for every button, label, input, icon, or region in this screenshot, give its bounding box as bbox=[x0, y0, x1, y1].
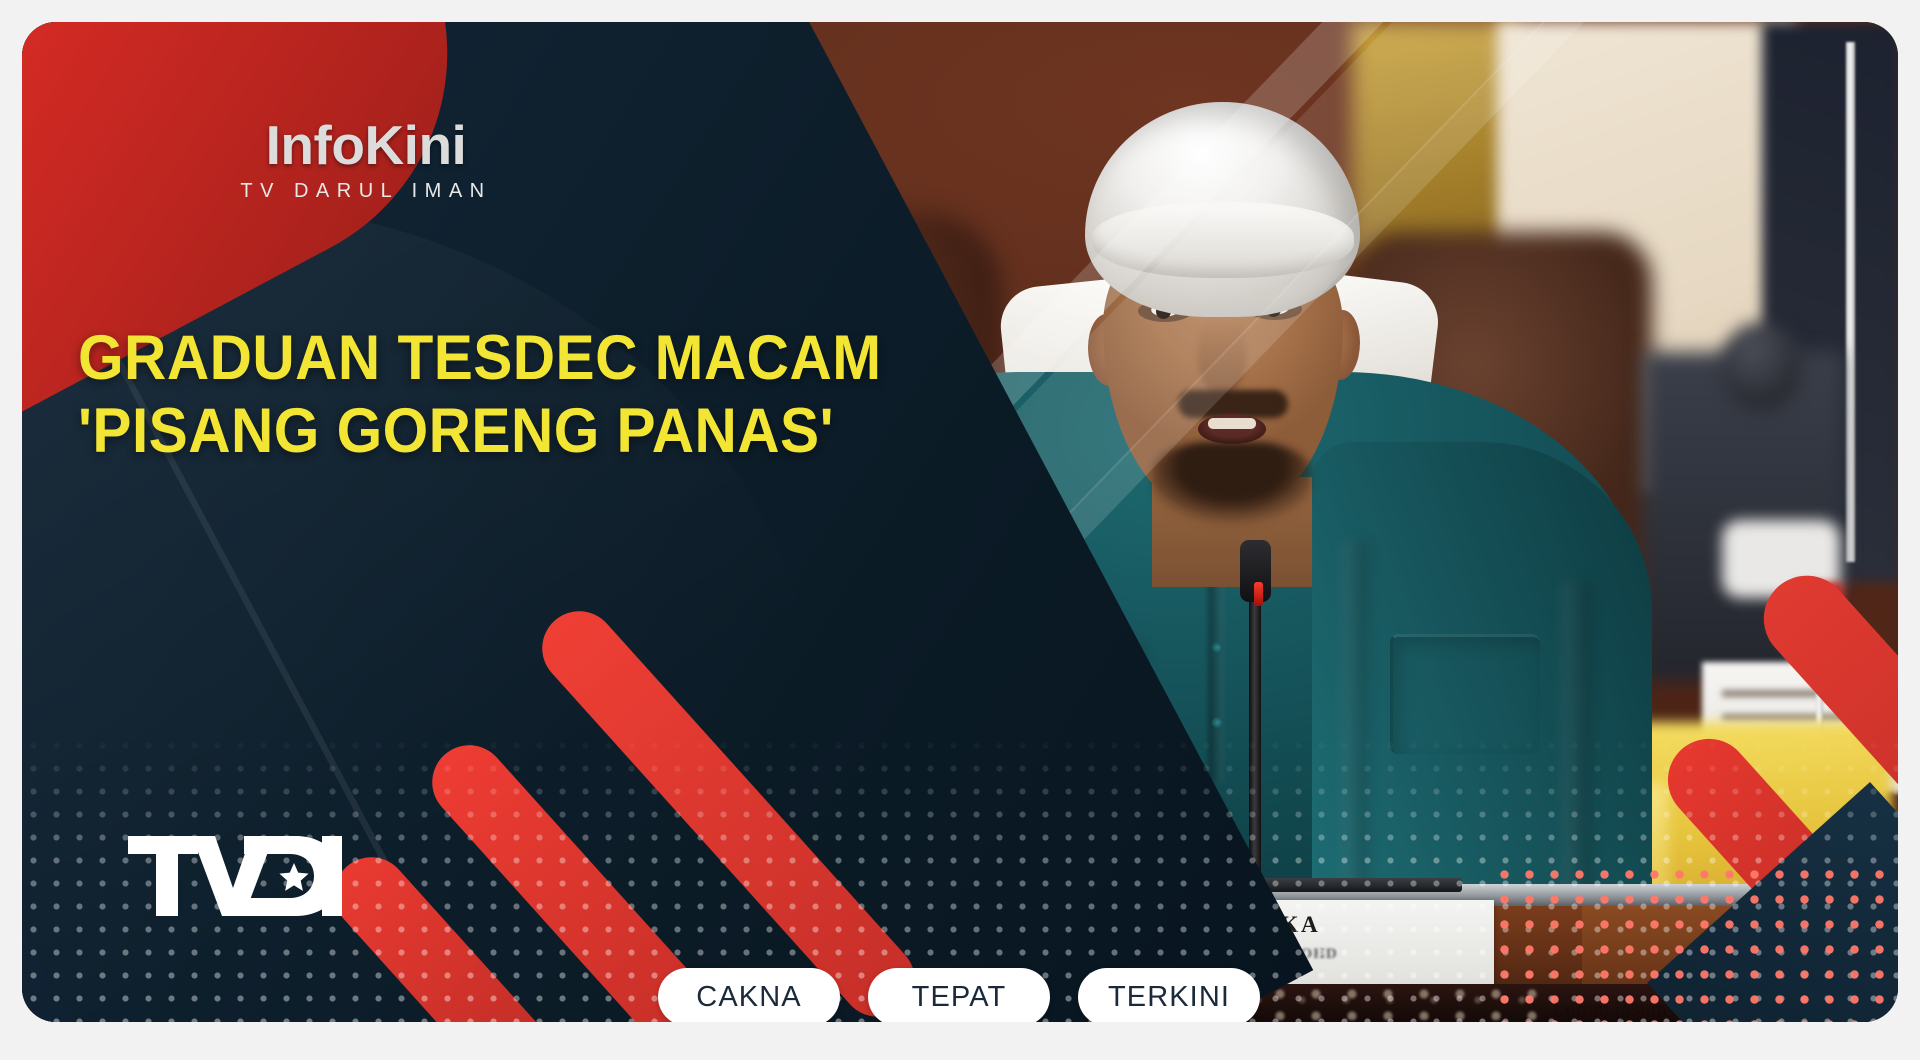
crescent-star-icon bbox=[257, 858, 309, 896]
tag-pill-tepat[interactable]: TEPAT bbox=[868, 968, 1050, 1022]
tag-pill-cakna[interactable]: CAKNA bbox=[658, 968, 840, 1022]
headline-line-2: 'PISANG GORENG PANAS' bbox=[78, 395, 692, 468]
tagline-pill-group: CAKNA TEPAT TERKINI bbox=[658, 968, 1260, 1022]
news-thumbnail-card: WAKIL PAKA YB HJ. SATIFF BIN MOHD bbox=[22, 22, 1898, 1022]
brand-name: InfoKini bbox=[196, 118, 536, 173]
tvdi-logo bbox=[126, 830, 346, 922]
watermark-text: Lorem ipsum bbox=[1554, 1000, 1667, 1022]
screenshot-canvas: WAKIL PAKA YB HJ. SATIFF BIN MOHD bbox=[0, 0, 1920, 1060]
channel-brand-block: InfoKini TV DARUL IMAN bbox=[196, 118, 536, 203]
headline-block: GRADUAN TESDEC MACAM 'PISANG GORENG PANA… bbox=[78, 322, 738, 468]
tag-pill-terkini[interactable]: TERKINI bbox=[1078, 968, 1260, 1022]
brand-subtitle: TV DARUL IMAN bbox=[196, 180, 536, 203]
headline-line-1: GRADUAN TESDEC MACAM bbox=[78, 322, 692, 395]
